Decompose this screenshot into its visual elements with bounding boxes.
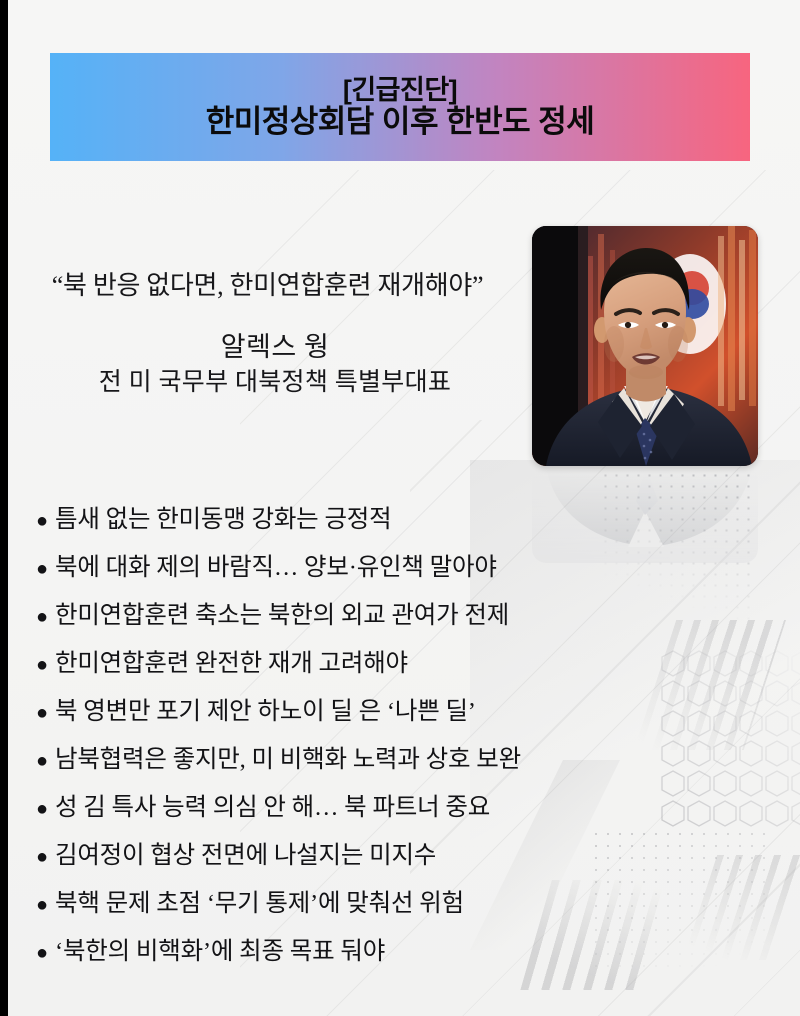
banner-title: 한미정상회담 이후 한반도 정세	[206, 105, 595, 140]
bullet-marker-icon: ●	[36, 655, 55, 675]
list-item-label: ‘북한의 비핵화’에 최종 목표 둬야	[55, 932, 385, 967]
banner-kicker: [긴급진단]	[343, 75, 457, 105]
header-banner: [긴급진단] 한미정상회담 이후 한반도 정세	[50, 53, 750, 161]
bullet-marker-icon: ●	[36, 943, 55, 963]
bullet-marker-icon: ●	[36, 847, 55, 867]
list-item: ● 틈새 없는 한미동맹 강화는 긍정적	[36, 500, 736, 548]
speaker-title: 전 미 국무부 대북정책 특별부대표	[30, 362, 520, 398]
list-item-label: 한미연합훈련 완전한 재개 고려해야	[55, 644, 408, 679]
list-item-label: 김여정이 협상 전면에 나설지는 미지수	[55, 836, 436, 871]
list-item-label: 한미연합훈련 축소는 북한의 외교 관여가 전제	[55, 596, 509, 631]
bullet-list: ● 틈새 없는 한미동맹 강화는 긍정적 ● 북에 대화 제의 바람직… 양보·…	[36, 500, 736, 980]
infographic-card: [긴급진단] 한미정상회담 이후 한반도 정세 “북 반응 없다면, 한미연합훈…	[0, 0, 800, 1016]
list-item: ● 북 영변만 포기 제안 하노이 딜 은 ‘나쁜 딜’	[36, 692, 736, 740]
list-item: ● 성 김 특사 능력 의심 안 해… 북 파트너 중요	[36, 788, 736, 836]
bullet-marker-icon: ●	[36, 607, 55, 627]
bullet-marker-icon: ●	[36, 895, 55, 915]
bullet-marker-icon: ●	[36, 703, 55, 723]
speaker-name: 알렉스 웡	[30, 325, 520, 364]
list-item: ● 북핵 문제 초점 ‘무기 통제’에 맞춰선 위험	[36, 884, 736, 932]
speaker-photo	[532, 226, 758, 466]
bullet-marker-icon: ●	[36, 799, 55, 819]
list-item-label: 북핵 문제 초점 ‘무기 통제’에 맞춰선 위험	[55, 884, 464, 919]
bullet-marker-icon: ●	[36, 559, 55, 579]
speaker-photo-group	[532, 226, 758, 466]
list-item: ● 한미연합훈련 축소는 북한의 외교 관여가 전제	[36, 596, 736, 644]
list-item-label: 틈새 없는 한미동맹 강화는 긍정적	[55, 500, 391, 535]
list-item: ● 남북협력은 좋지만, 미 비핵화 노력과 상호 보완	[36, 740, 736, 788]
left-edge-rail	[0, 0, 8, 1016]
headline-quote: “북 반응 없다면, 한미연합훈련 재개해야”	[0, 265, 535, 302]
list-item-label: 북에 대화 제의 바람직… 양보·유인책 말아야	[55, 548, 497, 583]
bullet-marker-icon: ●	[36, 751, 55, 771]
list-item: ● ‘북한의 비핵화’에 최종 목표 둬야	[36, 932, 736, 980]
list-item-label: 북 영변만 포기 제안 하노이 딜 은 ‘나쁜 딜’	[55, 692, 476, 727]
list-item-label: 남북협력은 좋지만, 미 비핵화 노력과 상호 보완	[55, 740, 521, 775]
list-item: ● 김여정이 협상 전면에 나설지는 미지수	[36, 836, 736, 884]
bullet-marker-icon: ●	[36, 511, 55, 531]
list-item-label: 성 김 특사 능력 의심 안 해… 북 파트너 중요	[55, 788, 490, 823]
list-item: ● 북에 대화 제의 바람직… 양보·유인책 말아야	[36, 548, 736, 596]
list-item: ● 한미연합훈련 완전한 재개 고려해야	[36, 644, 736, 692]
